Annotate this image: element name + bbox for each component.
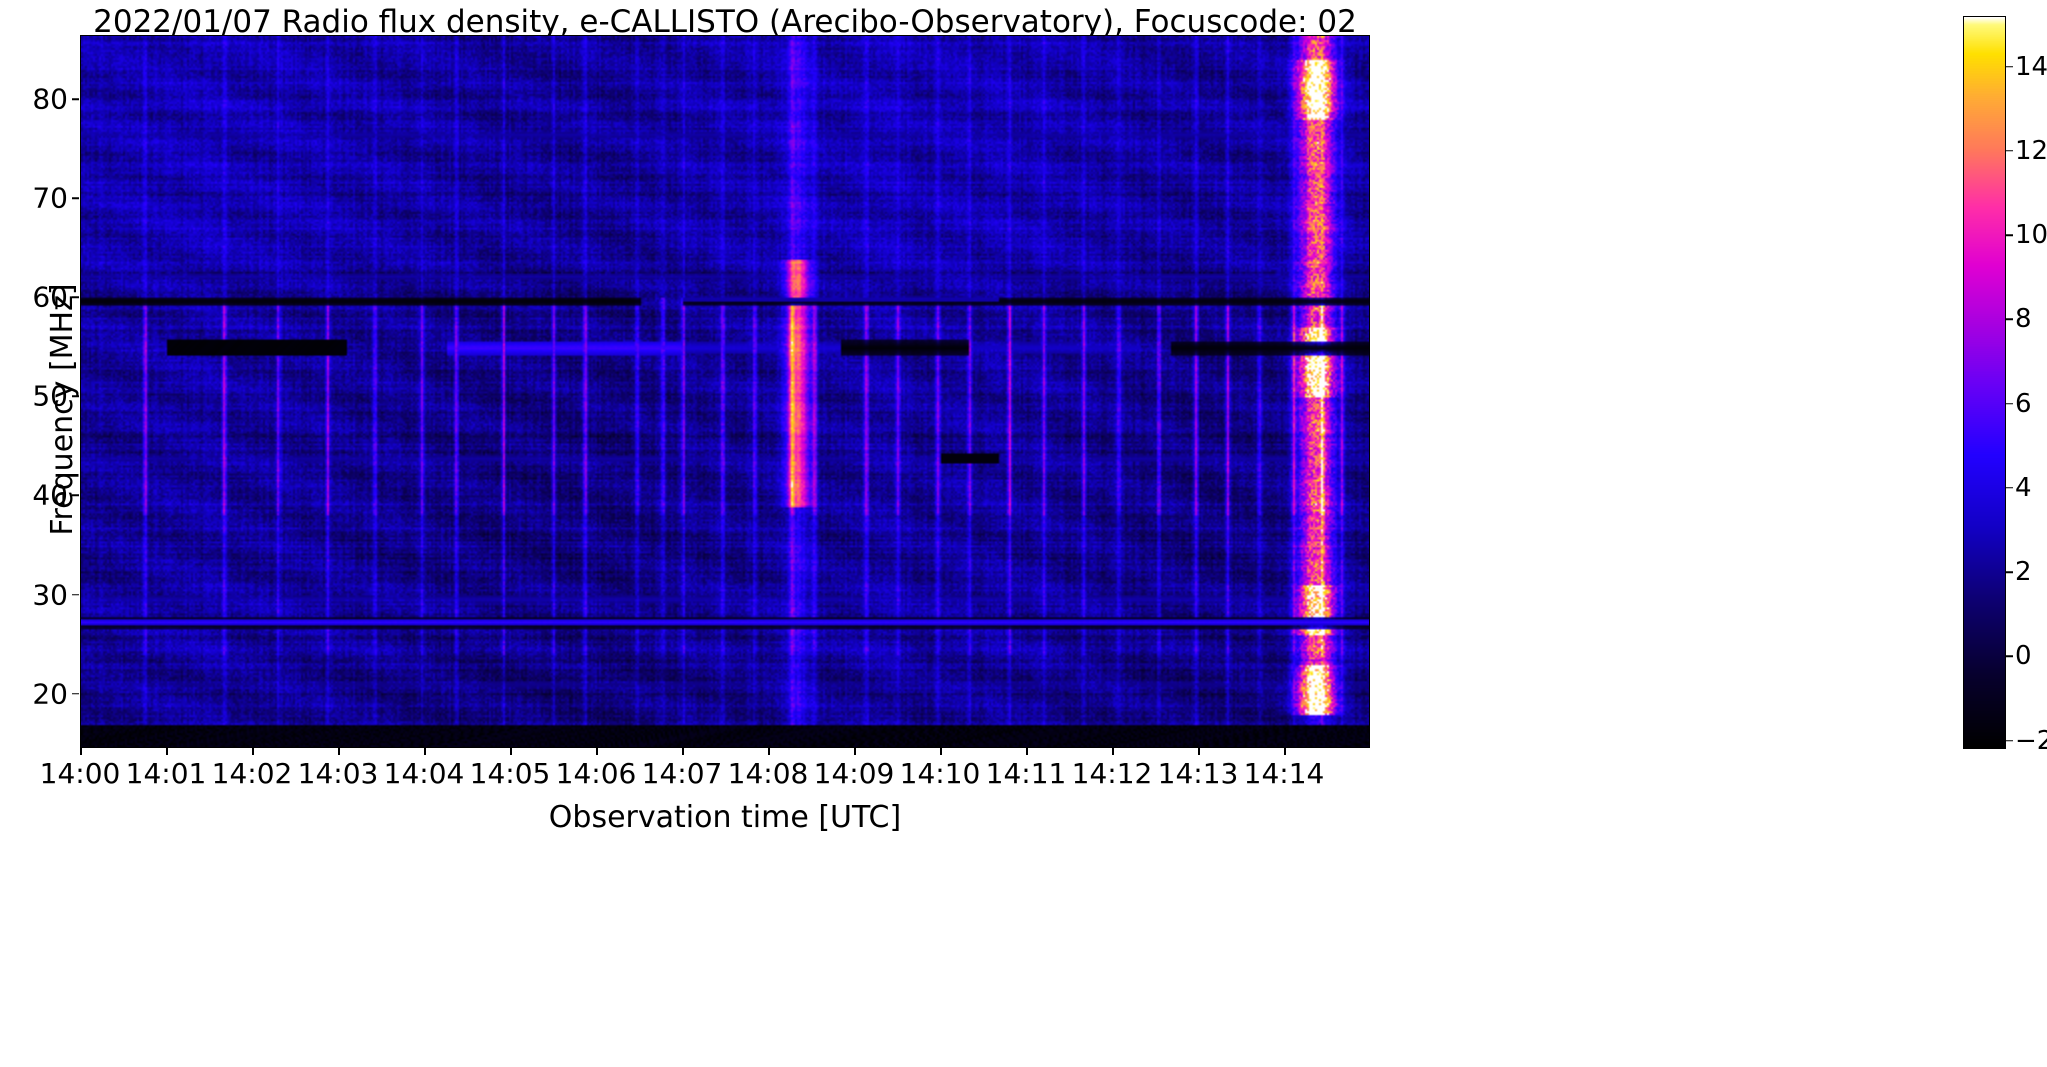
x-tick-mark [80, 748, 82, 755]
x-tick-mark [854, 748, 856, 755]
colorbar-tick-mark [2006, 740, 2013, 742]
colorbar-tick-mark [2006, 656, 2013, 658]
x-tick-mark [768, 748, 770, 755]
x-axis-label: Observation time [UTC] [80, 800, 1370, 835]
colorbar-tick-label: 0 [2015, 641, 2032, 671]
colorbar-tick-label: 6 [2015, 389, 2032, 419]
x-tick-mark [940, 748, 942, 755]
colorbar-tick-mark [2006, 487, 2013, 489]
x-tick-mark [252, 748, 254, 755]
colorbar-tick-mark [2006, 319, 2013, 321]
x-tick-mark [166, 748, 168, 755]
y-axis-label: Frequency [MHz] [45, 53, 80, 766]
colorbar-tick-label: 12 [2015, 136, 2047, 166]
x-tick-mark [596, 748, 598, 755]
colorbar-tick-mark [2006, 66, 2013, 68]
colorbar-gradient [1963, 16, 2006, 749]
x-tick-mark [424, 748, 426, 755]
spectrogram-axes [80, 35, 1370, 748]
colorbar-tick-label: 8 [2015, 304, 2032, 334]
colorbar-tick-label: 4 [2015, 473, 2032, 503]
colorbar-tick-mark [2006, 403, 2013, 405]
x-tick-mark [682, 748, 684, 755]
colorbar-tick-mark [2006, 571, 2013, 573]
x-tick-mark [1198, 748, 1200, 755]
colorbar-tick-label: 10 [2015, 220, 2047, 250]
x-tick-label: 14:14 [1204, 757, 1364, 790]
colorbar-tick-label: −2 [2015, 726, 2047, 756]
colorbar-tick-mark [2006, 150, 2013, 152]
spectrogram-image [81, 36, 1370, 748]
colorbar-tick-mark [2006, 234, 2013, 236]
x-tick-mark [338, 748, 340, 755]
x-tick-mark [1026, 748, 1028, 755]
colorbar [1963, 16, 2006, 749]
colorbar-tick-label: 14 [2015, 52, 2047, 82]
x-tick-mark [1284, 748, 1286, 755]
x-tick-mark [510, 748, 512, 755]
spectrogram-figure: 2022/01/07 Radio flux density, e-CALLIST… [0, 0, 2047, 1067]
colorbar-tick-label: 2 [2015, 557, 2032, 587]
x-tick-mark [1112, 748, 1114, 755]
